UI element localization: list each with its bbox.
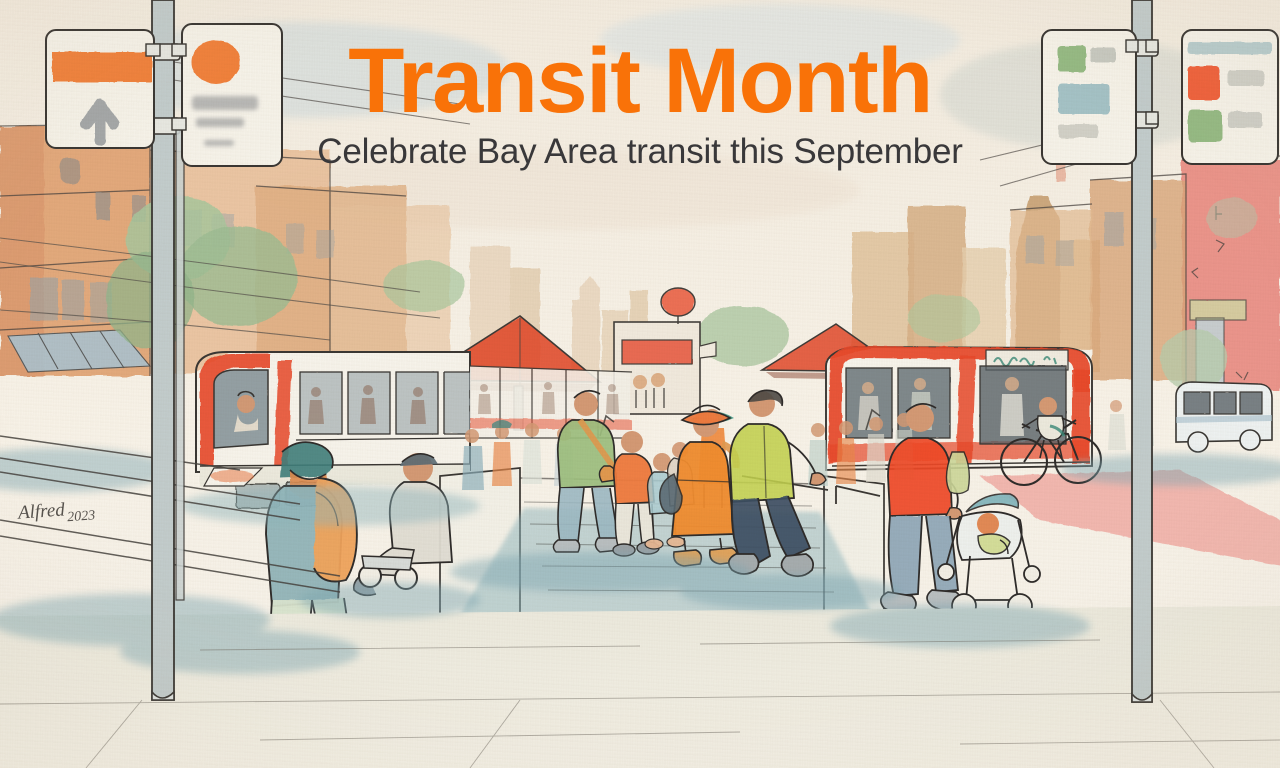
platform-pole [176,120,184,600]
watercolor-illustration [0,0,1280,768]
signature-year: 2023 [67,508,96,526]
artist-signature: Alfred2023 [17,497,95,524]
left-sign-right [172,24,282,166]
transit-month-banner: Transit Month Celebrate Bay Area transit… [0,0,1280,768]
right-sign-left [1042,30,1138,164]
shuttle-van-far-right [1176,382,1272,452]
signature-name: Alfred [17,499,65,523]
left-sign-upper [46,30,160,148]
